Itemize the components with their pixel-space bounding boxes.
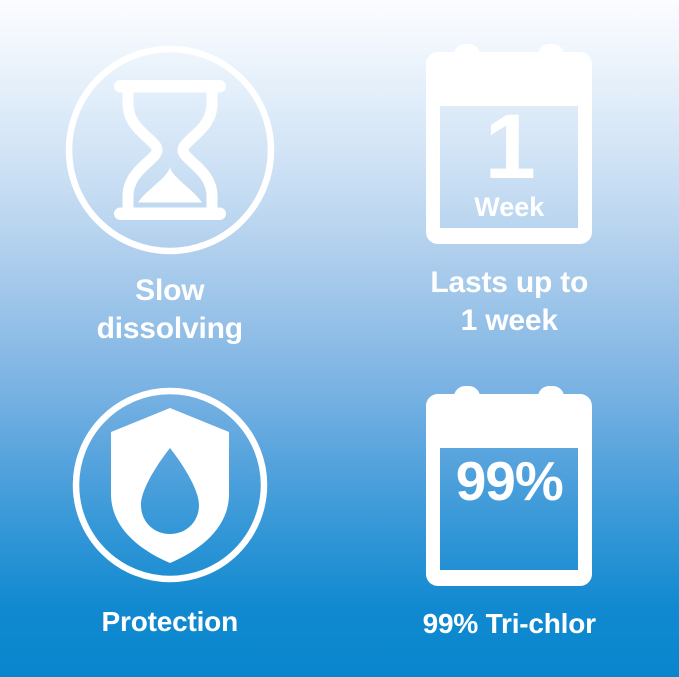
calendar-small-text-week: Week <box>416 193 602 223</box>
feature-card-lasts-one-week: 1 Week Lasts up to 1 week <box>340 0 679 348</box>
feature-caption-tri-chlor: 99% Tri-chlor <box>423 606 596 641</box>
hourglass-in-circle-icon <box>64 44 276 256</box>
feature-card-protection: Protection <box>0 348 340 677</box>
feature-caption-slow-dissolving: Slow dissolving <box>97 272 243 348</box>
feature-caption-lasts-one-week: Lasts up to 1 week <box>430 264 588 340</box>
feature-grid: Slow dissolving 1 Week Lasts u <box>0 0 679 677</box>
calendar-big-text-percent: 99% <box>416 454 602 509</box>
shield-droplet-in-circle-icon <box>71 386 269 584</box>
feature-caption-protection: Protection <box>102 604 238 639</box>
feature-card-tri-chlor: 99% 99% Tri-chlor <box>340 348 679 677</box>
feature-infographic: Slow dissolving 1 Week Lasts u <box>0 0 679 677</box>
feature-card-slow-dissolving: Slow dissolving <box>0 0 340 348</box>
calendar-big-text-one: 1 <box>416 104 602 191</box>
